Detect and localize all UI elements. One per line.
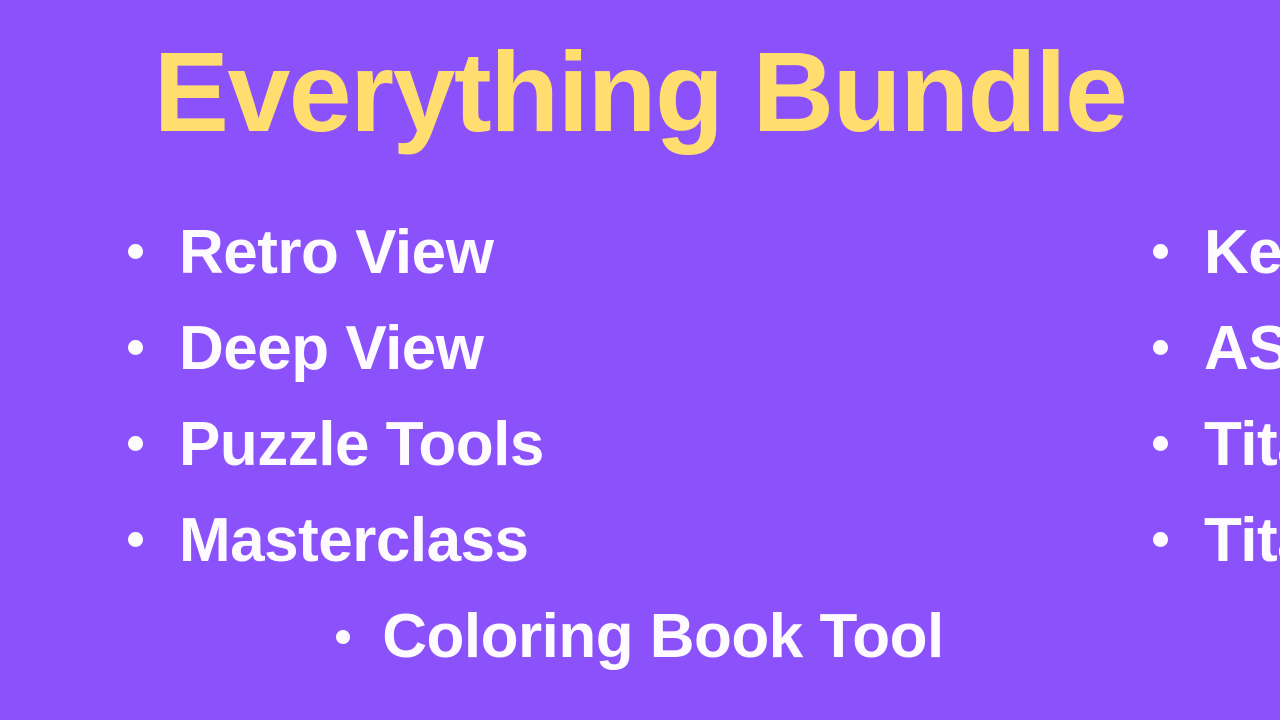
list-item-label: Titans Designer — [1204, 414, 1280, 476]
bullet-dot-icon — [128, 340, 143, 355]
bullet-dot-icon — [128, 244, 143, 259]
list-item-label: Coloring Book Tool — [382, 606, 944, 668]
page-title: Everything Bundle — [0, 36, 1280, 149]
list-item-label: ASIN Tracker — [1204, 318, 1280, 380]
list-item-label: Puzzle Tools — [179, 414, 544, 476]
feature-list-right-column: Keyword Tracker ASIN Tracker Titans Desi… — [520, 222, 1280, 606]
list-item: ASIN Tracker — [1153, 318, 1280, 414]
bullet-dot-icon — [1153, 532, 1168, 547]
list-item-label: Deep View — [179, 318, 484, 380]
list-item: Retro View — [128, 222, 520, 318]
everything-bundle-slide: Everything Bundle Retro View Deep View P… — [0, 0, 1280, 720]
feature-list-columns: Retro View Deep View Puzzle Tools Master… — [0, 222, 1280, 606]
list-item-label: Titans Pro — [1204, 510, 1280, 572]
list-item: Puzzle Tools — [128, 414, 520, 510]
list-item-label: Keyword Tracker — [1204, 222, 1280, 284]
bullet-dot-icon — [336, 630, 350, 644]
bullet-dot-icon — [128, 532, 143, 547]
feature-list-left-column: Retro View Deep View Puzzle Tools Master… — [0, 222, 520, 606]
list-item: Masterclass — [128, 510, 520, 606]
list-item: Coloring Book Tool — [0, 606, 1280, 668]
list-item: Titans Designer — [1153, 414, 1280, 510]
bullet-dot-icon — [1153, 340, 1168, 355]
list-item: Keyword Tracker — [1153, 222, 1280, 318]
list-item-label: Masterclass — [179, 510, 529, 572]
list-item: Deep View — [128, 318, 520, 414]
list-item-label: Retro View — [179, 222, 493, 284]
bullet-dot-icon — [1153, 244, 1168, 259]
bullet-dot-icon — [1153, 436, 1168, 451]
list-item: Titans Pro — [1153, 510, 1280, 606]
bullet-dot-icon — [128, 436, 143, 451]
